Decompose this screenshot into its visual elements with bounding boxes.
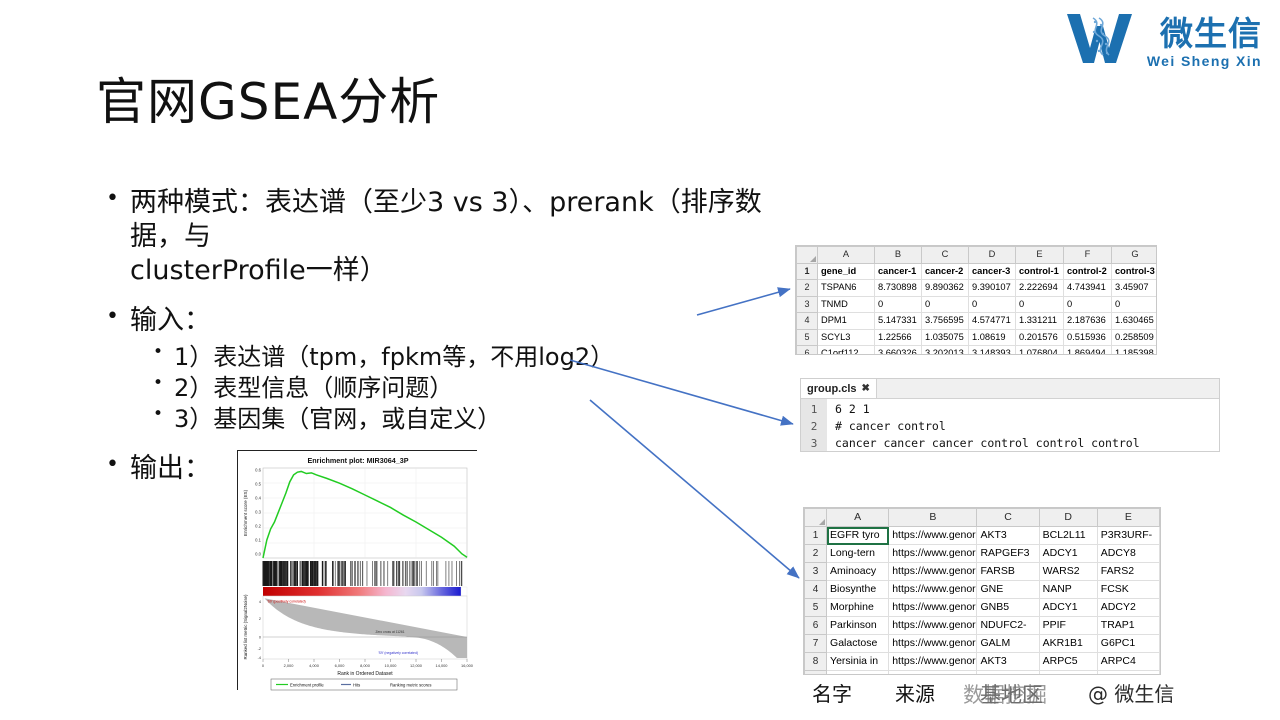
cell-d6[interactable]: 3.148393 bbox=[969, 346, 1016, 356]
cell-b4[interactable]: https://www.genor bbox=[889, 581, 977, 599]
legend-label-ranking: Ranking metric scores bbox=[390, 682, 431, 687]
cell-d2[interactable]: ADCY1 bbox=[1039, 545, 1097, 563]
group-cls-editor-window[interactable]: group.cls ✖ 1 2 3 6 2 1 # cancer control… bbox=[800, 378, 1220, 452]
col-header-E[interactable]: E bbox=[1016, 247, 1064, 264]
cell-g3[interactable]: 0 bbox=[1112, 296, 1158, 313]
cell-a6[interactable]: Parkinson bbox=[827, 617, 889, 635]
watermark-front: 基地区 bbox=[980, 679, 1043, 709]
cell-g4[interactable]: 1.630465 bbox=[1112, 313, 1158, 330]
cell-d5[interactable]: ADCY1 bbox=[1039, 599, 1097, 617]
col-header-G[interactable]: G bbox=[1112, 247, 1158, 264]
annotation-zero-cross: Zero cross at 11261 bbox=[375, 630, 404, 634]
bullet-modes-line1: 两种模式：表达谱（至少3 vs 3）、prerank（排序数据，与 bbox=[130, 187, 762, 252]
y-axis-label-lower: Ranked list metric (Signal2Noise) bbox=[243, 594, 248, 659]
bullet-modes-line2: clusterProfile一样） bbox=[130, 255, 387, 286]
cell-a6[interactable]: C1orf112 bbox=[818, 346, 875, 356]
cell-f6[interactable]: 1.869494 bbox=[1064, 346, 1112, 356]
line-number-3: 3 bbox=[801, 435, 827, 452]
bullet-output-label: 输出： bbox=[130, 453, 211, 484]
cell-d6[interactable]: PPIF bbox=[1039, 617, 1097, 635]
line-number-2: 2 bbox=[801, 418, 827, 435]
row-header-2[interactable]: 2 bbox=[805, 545, 827, 563]
row-header-1[interactable]: 1 bbox=[805, 527, 827, 545]
bullet-input-item-2: 2）表型信息（顺序问题） bbox=[150, 373, 764, 404]
cell-e3[interactable]: FARS2 bbox=[1097, 563, 1159, 581]
brand-logo: 微生信 Wei Sheng Xin bbox=[1063, 8, 1262, 68]
cell-d3[interactable]: 0 bbox=[969, 296, 1016, 313]
ytick-0.4: 0.4 bbox=[255, 496, 261, 501]
legend-label-enrichment: Enrichment profile bbox=[290, 682, 324, 687]
cell-f4[interactable]: 2.187636 bbox=[1064, 313, 1112, 330]
xtick-16000: 16,000 bbox=[461, 663, 474, 668]
bullet-modes: 两种模式：表达谱（至少3 vs 3）、prerank（排序数据，与 cluste… bbox=[104, 186, 764, 288]
row-header-6[interactable]: 6 bbox=[797, 346, 818, 356]
cell-d1[interactable]: BCL2L11 bbox=[1039, 527, 1097, 545]
cell-c1[interactable]: cancer-2 bbox=[922, 263, 969, 280]
cell-c6[interactable]: 3.202013 bbox=[922, 346, 969, 356]
cell-e6[interactable]: TRAP1 bbox=[1097, 617, 1159, 635]
ytick-0.6: 0.6 bbox=[255, 468, 261, 473]
cell-a3[interactable]: Aminoacy bbox=[827, 563, 889, 581]
tab-label: group.cls bbox=[807, 383, 857, 395]
ytick-lower-2: 2 bbox=[259, 617, 261, 621]
sheet-corner-icon[interactable] bbox=[797, 247, 818, 264]
col-header-B[interactable]: B bbox=[875, 247, 922, 264]
row-header-6[interactable]: 6 bbox=[805, 617, 827, 635]
cell-b8[interactable]: https://www.genor bbox=[889, 653, 977, 671]
cell-f5[interactable]: 0.515936 bbox=[1064, 329, 1112, 346]
table-row: 6 Parkinson https://www.genor NDUFC2- PP… bbox=[805, 617, 1160, 635]
cell-b2[interactable]: https://www.genor bbox=[889, 545, 977, 563]
gsea-plot-svg: Enrichment plot: MIR3064_3P 0.6 0.5 0.4 … bbox=[238, 451, 478, 691]
cell-a8[interactable]: Yersinia in bbox=[827, 653, 889, 671]
cell-b3[interactable]: https://www.genor bbox=[889, 563, 977, 581]
table-row: 4 DPM1 5.147331 3.756595 4.574771 1.3312… bbox=[797, 313, 1158, 330]
code-line-2: # cancer control bbox=[835, 418, 1219, 435]
cell-d8[interactable]: ARPC5 bbox=[1039, 653, 1097, 671]
expression-column-header-row: A B C D E F G bbox=[797, 247, 1158, 264]
editor-tab-bar: group.cls ✖ bbox=[801, 379, 1219, 399]
sheet-corner-icon[interactable] bbox=[805, 509, 827, 527]
bullet-list: 两种模式：表达谱（至少3 vs 3）、prerank（排序数据，与 cluste… bbox=[104, 186, 764, 486]
cell-a2[interactable]: Long-tern bbox=[827, 545, 889, 563]
row-header-4[interactable]: 4 bbox=[805, 581, 827, 599]
annotation-negatively-correlated: 'S9' (negatively correlated) bbox=[378, 651, 418, 655]
table-row: 5 Morphine https://www.genor GNB5 ADCY1 … bbox=[805, 599, 1160, 617]
geneset-table: A B C D E 1 EGFR tyro https://www.genor … bbox=[804, 508, 1160, 675]
col-header-C[interactable]: C bbox=[922, 247, 969, 264]
cell-e1[interactable]: P3R3URF- bbox=[1097, 527, 1159, 545]
bullet-input-label: 输入： bbox=[130, 305, 211, 336]
table-row: 8 Yersinia in https://www.genor AKT3 ARP… bbox=[805, 653, 1160, 671]
cell-a2[interactable]: TSPAN6 bbox=[818, 280, 875, 297]
cell-a9[interactable]: Starch an bbox=[827, 671, 889, 676]
cell-e3[interactable]: 0 bbox=[1016, 296, 1064, 313]
table-row: 6 C1orf112 3.660326 3.202013 3.148393 1.… bbox=[797, 346, 1158, 356]
caption-source: 来源 bbox=[895, 678, 935, 707]
table-row: 1 gene_id cancer-1 cancer-2 cancer-3 con… bbox=[797, 263, 1158, 280]
col-header-A[interactable]: A bbox=[827, 509, 889, 527]
table-row: 5 SCYL3 1.22566 1.035075 1.08619 0.20157… bbox=[797, 329, 1158, 346]
x-axis-label: Rank in Ordered Dataset bbox=[337, 671, 393, 677]
col-header-D[interactable]: D bbox=[1039, 509, 1097, 527]
cell-c5[interactable]: GNB5 bbox=[977, 599, 1039, 617]
xtick-10000: 10,000 bbox=[385, 663, 398, 668]
cell-a7[interactable]: Galactose bbox=[827, 635, 889, 653]
xtick-6000: 6,000 bbox=[335, 663, 346, 668]
table-row: 2 Long-tern https://www.genor RAPGEF3 AD… bbox=[805, 545, 1160, 563]
xtick-14000: 14,000 bbox=[436, 663, 449, 668]
cell-e8[interactable]: ARPC4 bbox=[1097, 653, 1159, 671]
cell-a5[interactable]: SCYL3 bbox=[818, 329, 875, 346]
watermark-tail: @ 微生信 bbox=[1088, 678, 1174, 707]
cell-c9[interactable]: TREH bbox=[977, 671, 1039, 676]
col-header-F[interactable]: F bbox=[1064, 247, 1112, 264]
row-header-5[interactable]: 5 bbox=[805, 599, 827, 617]
legend-label-hits: Hits bbox=[353, 682, 360, 687]
geneset-column-header-row: A B C D E bbox=[805, 509, 1160, 527]
col-header-C[interactable]: C bbox=[977, 509, 1039, 527]
editor-body: 1 2 3 6 2 1 # cancer control cancer canc… bbox=[801, 399, 1219, 452]
cell-b7[interactable]: https://www.genor bbox=[889, 635, 977, 653]
cell-b6[interactable]: https://www.genor bbox=[889, 617, 977, 635]
col-header-B[interactable]: B bbox=[889, 509, 977, 527]
cell-b3[interactable]: 0 bbox=[875, 296, 922, 313]
cell-c4[interactable]: GNE bbox=[977, 581, 1039, 599]
cell-b5[interactable]: 1.22566 bbox=[875, 329, 922, 346]
bullet-input-item-3: 3）基因集（官网，或自定义） bbox=[150, 404, 764, 435]
cell-b1[interactable]: cancer-1 bbox=[875, 263, 922, 280]
cell-a1-selected[interactable]: EGFR tyro bbox=[827, 527, 889, 545]
cell-d5[interactable]: 1.08619 bbox=[969, 329, 1016, 346]
annotation-positively-correlated: 'S0' (positively correlated) bbox=[267, 600, 306, 604]
cell-f3[interactable]: 0 bbox=[1064, 296, 1112, 313]
cell-e5[interactable]: ADCY2 bbox=[1097, 599, 1159, 617]
cell-b1[interactable]: https://www.genor bbox=[889, 527, 977, 545]
table-row: 7 Galactose https://www.genor GALM AKR1B… bbox=[805, 635, 1160, 653]
cell-c3[interactable]: FARSB bbox=[977, 563, 1039, 581]
line-number-1: 1 bbox=[801, 401, 827, 418]
xtick-8000: 8,000 bbox=[360, 663, 371, 668]
code-line-3: cancer cancer cancer control control con… bbox=[835, 435, 1219, 452]
row-header-5[interactable]: 5 bbox=[797, 329, 818, 346]
y-axis-label: Enrichment score (ES) bbox=[243, 489, 248, 536]
row-header-9[interactable]: 9 bbox=[805, 671, 827, 676]
cell-d7[interactable]: AKR1B1 bbox=[1039, 635, 1097, 653]
ytick-0.0: 0.0 bbox=[255, 552, 261, 557]
row-header-1[interactable]: 1 bbox=[797, 263, 818, 280]
col-header-D[interactable]: D bbox=[969, 247, 1016, 264]
cell-e1[interactable]: control-1 bbox=[1016, 263, 1064, 280]
table-row: 1 EGFR tyro https://www.genor AKT3 BCL2L… bbox=[805, 527, 1160, 545]
cell-c2[interactable]: RAPGEF3 bbox=[977, 545, 1039, 563]
brand-logo-text: 微生信 Wei Sheng Xin bbox=[1147, 17, 1262, 68]
close-icon[interactable]: ✖ bbox=[862, 383, 870, 394]
cell-b9[interactable]: https://www.genor bbox=[889, 671, 977, 676]
xtick-2000: 2,000 bbox=[284, 663, 295, 668]
col-header-E[interactable]: E bbox=[1097, 509, 1159, 527]
cell-b2[interactable]: 8.730898 bbox=[875, 280, 922, 297]
cell-c3[interactable]: 0 bbox=[922, 296, 969, 313]
cell-a5[interactable]: Morphine bbox=[827, 599, 889, 617]
cell-e7[interactable]: G6PC1 bbox=[1097, 635, 1159, 653]
caption-name: 名字 bbox=[812, 678, 852, 707]
ytick-lower-neg4: -4 bbox=[258, 656, 261, 660]
row-header-4[interactable]: 4 bbox=[797, 313, 818, 330]
cell-e5[interactable]: 0.201576 bbox=[1016, 329, 1064, 346]
cell-c1[interactable]: AKT3 bbox=[977, 527, 1039, 545]
bullet-input-item-1: 1）表达谱（tpm，fpkm等，不用log2） bbox=[150, 342, 764, 373]
row-header-8[interactable]: 8 bbox=[805, 653, 827, 671]
ytick-lower-4: 4 bbox=[259, 600, 261, 604]
cell-c7[interactable]: GALM bbox=[977, 635, 1039, 653]
cell-g5[interactable]: 0.258509 bbox=[1112, 329, 1158, 346]
cell-c6[interactable]: NDUFC2- bbox=[977, 617, 1039, 635]
xtick-4000: 4,000 bbox=[309, 663, 320, 668]
cell-g2[interactable]: 3.45907 bbox=[1112, 280, 1158, 297]
cell-c5[interactable]: 1.035075 bbox=[922, 329, 969, 346]
cell-e4[interactable]: FCSK bbox=[1097, 581, 1159, 599]
cell-a4[interactable]: DPM1 bbox=[818, 313, 875, 330]
cell-d1[interactable]: cancer-3 bbox=[969, 263, 1016, 280]
ytick-0.2: 0.2 bbox=[255, 524, 261, 529]
row-header-7[interactable]: 7 bbox=[805, 635, 827, 653]
cell-c4[interactable]: 3.756595 bbox=[922, 313, 969, 330]
cell-f1[interactable]: control-2 bbox=[1064, 263, 1112, 280]
cell-f2[interactable]: 4.743941 bbox=[1064, 280, 1112, 297]
cell-b6[interactable]: 3.660326 bbox=[875, 346, 922, 356]
code-line-1: 6 2 1 bbox=[835, 401, 1219, 418]
bullet-input: 输入： bbox=[104, 304, 764, 338]
cell-d4[interactable]: 4.574771 bbox=[969, 313, 1016, 330]
cell-a1[interactable]: gene_id bbox=[818, 263, 875, 280]
cell-e2[interactable]: ADCY8 bbox=[1097, 545, 1159, 563]
cell-d4[interactable]: NANP bbox=[1039, 581, 1097, 599]
chart-title: Enrichment plot: MIR3064_3P bbox=[307, 456, 408, 465]
cell-b5[interactable]: https://www.genor bbox=[889, 599, 977, 617]
row-header-2[interactable]: 2 bbox=[797, 280, 818, 297]
cell-a3[interactable]: TNMD bbox=[818, 296, 875, 313]
cell-g1[interactable]: control-3 bbox=[1112, 263, 1158, 280]
ytick-0.5: 0.5 bbox=[255, 482, 261, 487]
cell-a4[interactable]: Biosynthe bbox=[827, 581, 889, 599]
row-header-3[interactable]: 3 bbox=[805, 563, 827, 581]
ytick-lower-0: 0 bbox=[259, 636, 261, 640]
bullet-input-sublist: 1）表达谱（tpm，fpkm等，不用log2） 2）表型信息（顺序问题） 3）基… bbox=[150, 342, 764, 436]
cell-e2[interactable]: 2.222694 bbox=[1016, 280, 1064, 297]
cell-e4[interactable]: 1.331211 bbox=[1016, 313, 1064, 330]
brand-name-cn: 微生信 bbox=[1160, 17, 1262, 50]
cell-e6[interactable]: 1.076804 bbox=[1016, 346, 1064, 356]
cell-c8[interactable]: AKT3 bbox=[977, 653, 1039, 671]
wei-sheng-xin-w-icon bbox=[1063, 8, 1141, 68]
correlation-color-bar bbox=[263, 587, 461, 596]
ytick-0.1: 0.1 bbox=[255, 538, 261, 543]
cell-d2[interactable]: 9.390107 bbox=[969, 280, 1016, 297]
xtick-12000: 12,000 bbox=[410, 663, 423, 668]
line-number-gutter: 1 2 3 bbox=[801, 399, 827, 452]
table-row: 3 TNMD 0 0 0 0 0 0 bbox=[797, 296, 1158, 313]
tab-group-cls[interactable]: group.cls ✖ bbox=[801, 379, 877, 398]
geneset-spreadsheet[interactable]: A B C D E 1 EGFR tyro https://www.genor … bbox=[803, 507, 1161, 675]
slide-canvas: 微生信 Wei Sheng Xin 官网GSEA分析 两种模式：表达谱（至少3 … bbox=[0, 0, 1280, 720]
table-row: 4 Biosynthe https://www.genor GNE NANP F… bbox=[805, 581, 1160, 599]
cell-c2[interactable]: 9.890362 bbox=[922, 280, 969, 297]
row-header-3[interactable]: 3 bbox=[797, 296, 818, 313]
expression-table: A B C D E F G 1 gene_id cancer-1 cancer-… bbox=[796, 246, 1157, 355]
cell-g6[interactable]: 1.185398 bbox=[1112, 346, 1158, 356]
ytick-lower-neg2: -2 bbox=[258, 647, 261, 651]
col-header-A[interactable]: A bbox=[818, 247, 875, 264]
cell-d9[interactable]: LOC12490 bbox=[1039, 671, 1097, 676]
page-title: 官网GSEA分析 bbox=[96, 62, 440, 134]
table-row: 9 Starch an https://www.genor TREH LOC12… bbox=[805, 671, 1160, 676]
brand-name-en: Wei Sheng Xin bbox=[1147, 54, 1262, 68]
expression-spreadsheet[interactable]: A B C D E F G 1 gene_id cancer-1 cancer-… bbox=[795, 245, 1157, 355]
cell-e9[interactable]: LOC12490 bbox=[1097, 671, 1159, 676]
cell-d3[interactable]: WARS2 bbox=[1039, 563, 1097, 581]
ytick-0.3: 0.3 bbox=[255, 510, 261, 515]
gsea-enrichment-plot: Enrichment plot: MIR3064_3P 0.6 0.5 0.4 … bbox=[237, 450, 477, 690]
editor-code-area[interactable]: 6 2 1 # cancer control cancer cancer can… bbox=[827, 399, 1219, 452]
cell-b4[interactable]: 5.147331 bbox=[875, 313, 922, 330]
table-row: 2 TSPAN6 8.730898 9.890362 9.390107 2.22… bbox=[797, 280, 1158, 297]
table-row: 3 Aminoacy https://www.genor FARSB WARS2… bbox=[805, 563, 1160, 581]
